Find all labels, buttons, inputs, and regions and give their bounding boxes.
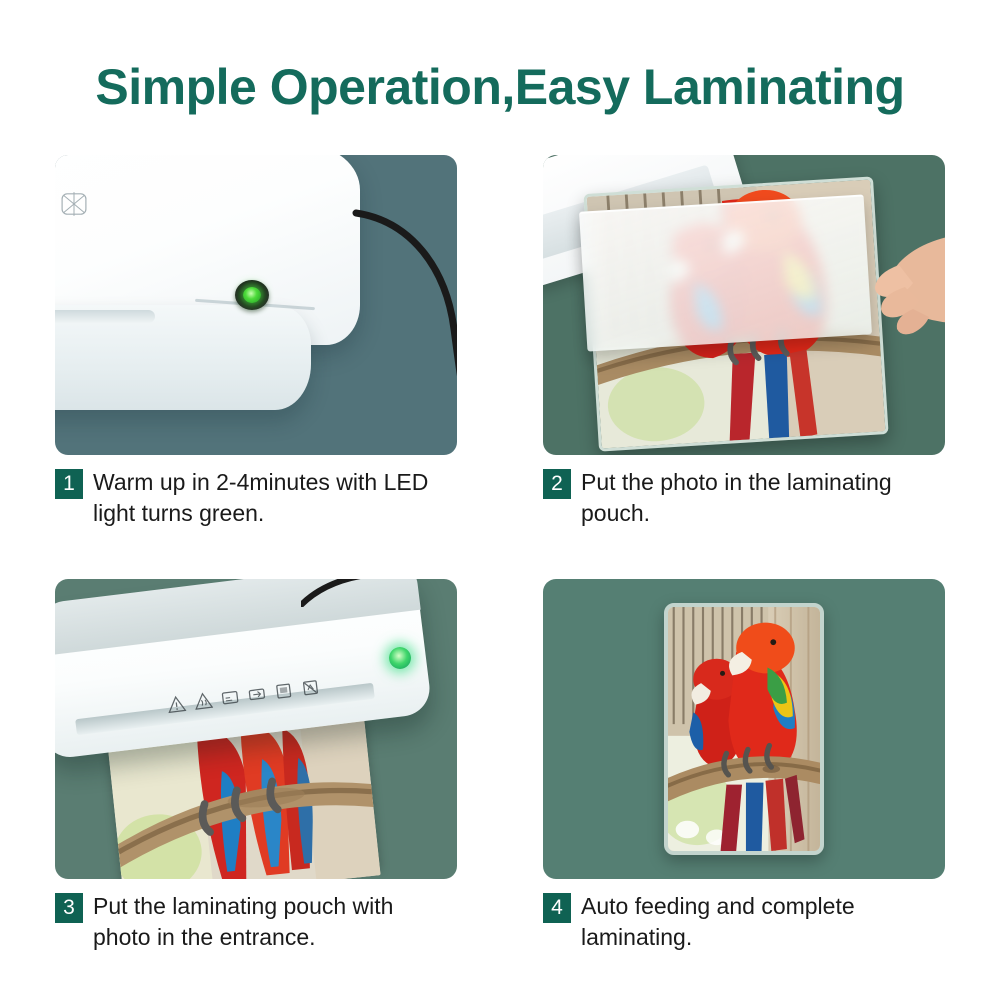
feed-direction-icon xyxy=(247,684,267,704)
step-3-badge: 3 xyxy=(55,893,83,923)
step-2-image xyxy=(543,155,945,455)
power-cord-icon xyxy=(350,207,457,407)
document-instruction-icon xyxy=(274,681,294,701)
step-1-caption-text: Warm up in 2-4minutes with LED light tur… xyxy=(93,467,455,529)
step-3: 3 Put the laminating pouch with photo in… xyxy=(55,579,457,953)
warning-triangle-icon xyxy=(166,694,186,714)
led-indicator-icon xyxy=(235,280,269,310)
step-1-badge: 1 xyxy=(55,469,83,499)
steps-grid: 1 Warm up in 2-4minutes with LED light t… xyxy=(55,155,945,953)
laminating-pouch xyxy=(579,194,872,351)
power-cord-icon xyxy=(301,579,391,607)
no-metal-instruction-icon xyxy=(300,678,320,698)
led-indicator-icon xyxy=(389,647,411,669)
infographic-page: Simple Operation,Easy Laminating xyxy=(0,0,1000,1000)
step-1: 1 Warm up in 2-4minutes with LED light t… xyxy=(55,155,457,529)
hot-surface-warning-icon xyxy=(193,691,213,711)
step-4-caption: 4 Auto feeding and complete laminating. xyxy=(543,891,945,953)
step-4: 4 Auto feeding and complete laminating. xyxy=(543,579,945,953)
step-2: 2 Put the photo in the laminating pouch. xyxy=(543,155,945,529)
step-3-caption-text: Put the laminating pouch with photo in t… xyxy=(93,891,455,953)
step-1-image xyxy=(55,155,457,455)
hand-icon xyxy=(851,225,945,355)
step-3-image xyxy=(55,579,457,879)
step-4-image xyxy=(543,579,945,879)
led-indicator-core xyxy=(243,287,261,303)
pouch-instruction-icon xyxy=(220,688,240,708)
step-2-badge: 2 xyxy=(543,469,571,499)
laminated-parrot-photo xyxy=(664,603,824,855)
step-2-caption: 2 Put the photo in the laminating pouch. xyxy=(543,467,945,529)
step-1-caption: 1 Warm up in 2-4minutes with LED light t… xyxy=(55,467,457,529)
step-4-caption-text: Auto feeding and complete laminating. xyxy=(581,891,943,953)
step-4-badge: 4 xyxy=(543,893,571,923)
page-title: Simple Operation,Easy Laminating xyxy=(0,58,1000,116)
laminator-exit-slot xyxy=(55,310,155,323)
step-3-caption: 3 Put the laminating pouch with photo in… xyxy=(55,891,457,953)
brand-logo-icon xyxy=(57,187,91,221)
step-2-caption-text: Put the photo in the laminating pouch. xyxy=(581,467,943,529)
parrot-artwork-final xyxy=(668,607,820,851)
